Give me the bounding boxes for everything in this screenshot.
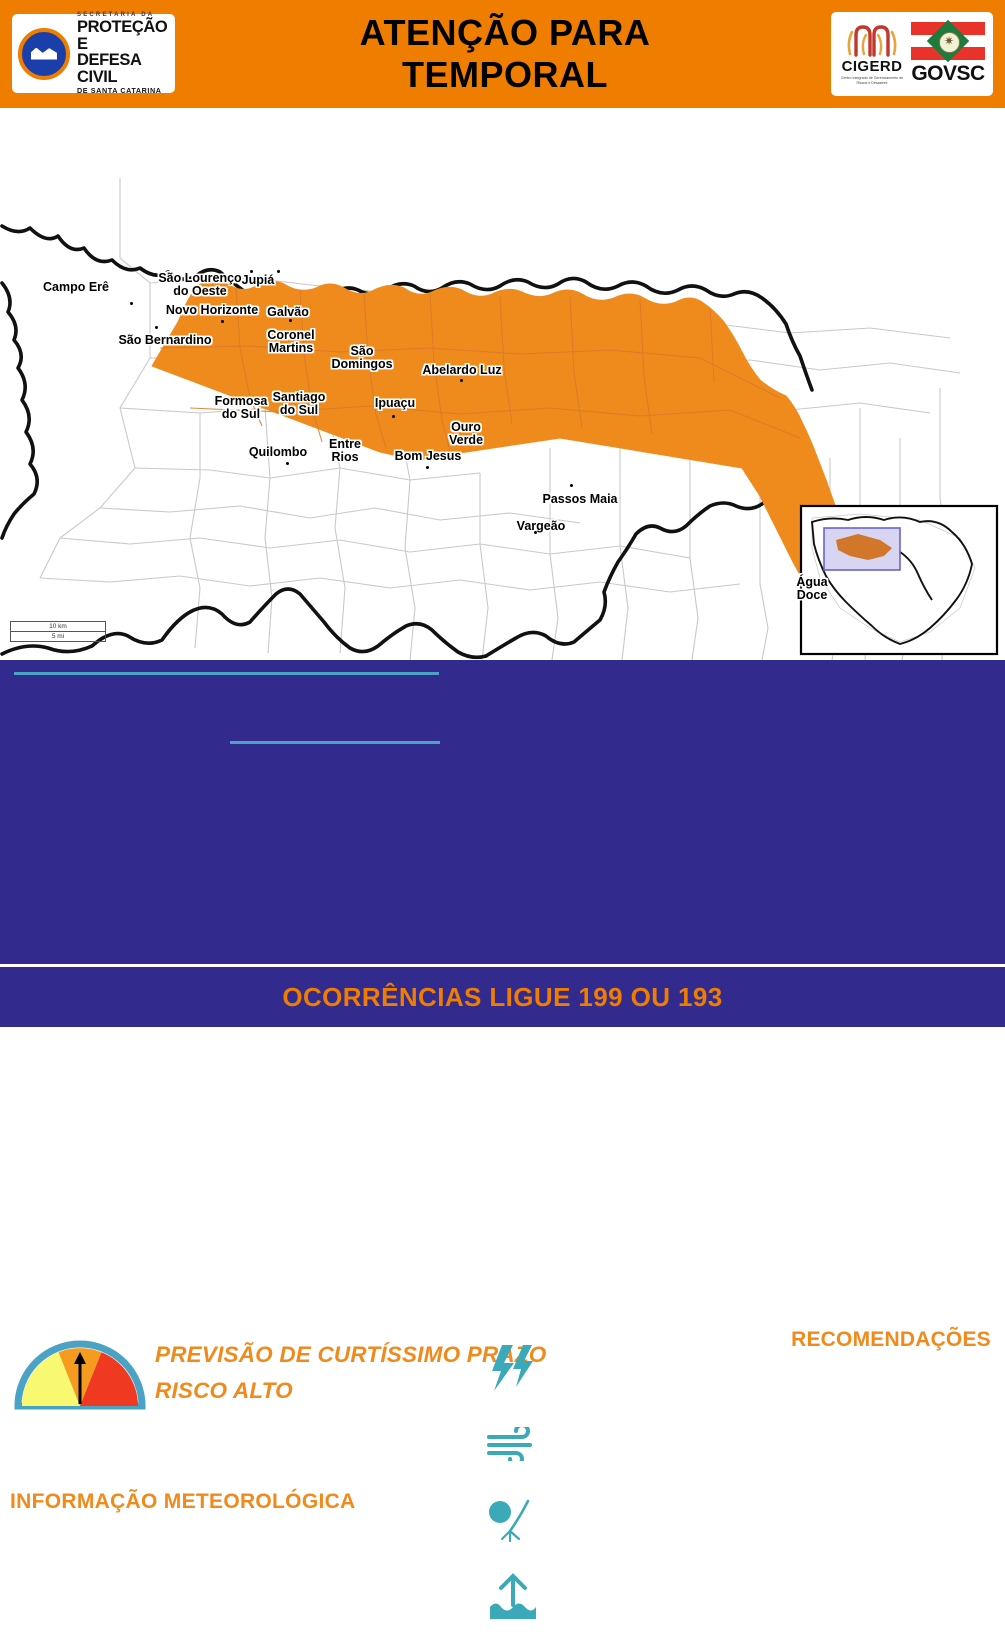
hazard-label: Raios	[544, 1354, 608, 1381]
recommendation-item: - Fique longe das janelas e desligue os …	[780, 1409, 1002, 1443]
page-title: ATENÇÃO PARA TEMPORAL	[240, 12, 770, 96]
divider-top	[14, 672, 439, 675]
logo-line-defesa: DEFESA CIVIL	[77, 52, 169, 85]
govsc-text: GOVSC	[909, 62, 987, 86]
emergency-footer: OCORRÊNCIAS LIGUE 199 OU 193	[0, 964, 1005, 1027]
city-label: Passos Maia	[530, 493, 630, 506]
hazard-item: Rajadas de Vento	[482, 1408, 782, 1479]
city-label: São Domingos	[323, 345, 401, 372]
hazard-label: Granizo	[544, 1506, 631, 1533]
city-label: Santiago do Sul	[262, 391, 336, 418]
city-label: Campo Erê	[34, 281, 118, 294]
defesa-civil-logo: SECRETARIA DA PROTEÇÃO E DEFESA CIVIL DE…	[12, 14, 175, 93]
govsc-logo: ✷ GOVSC	[909, 22, 987, 86]
city-label: Ouro Verde	[440, 421, 492, 448]
city-label: Ipuaçu	[364, 397, 426, 410]
city-label: Água Doce	[786, 576, 838, 603]
info-panel: PREVISÃO DE CURTÍSSIMO PRAZO RISCO ALTO …	[0, 660, 1005, 964]
sc-text: SC	[957, 62, 985, 85]
city-label: Coronel Martins	[255, 329, 327, 356]
cigerd-name: CIGERD	[837, 58, 907, 75]
met-info-heading: INFORMAÇÃO METEOROLÓGICA	[10, 1490, 356, 1514]
meteorologist-label: 17/02/2026 Meteorologista: Jessica Silva	[10, 1449, 346, 1471]
city-label: Novo Horizonte	[157, 304, 267, 317]
emergency-phone-text: OCORRÊNCIAS LIGUE 199 OU 193	[282, 982, 722, 1013]
alert-infographic: SECRETARIA DA PROTEÇÃO E DEFESA CIVIL DE…	[0, 0, 1005, 1024]
map-vector	[0, 108, 1005, 660]
recommendation-item: - Evite transitar em pontilhões e pontes…	[780, 1481, 1002, 1515]
hazard-label: Alagamentos	[544, 1582, 691, 1609]
hazard-item: Raios	[482, 1332, 782, 1403]
map-scale-bar: 10 km 5 mi	[10, 621, 106, 642]
logo-line-protecao: PROTEÇÃO E	[77, 19, 169, 52]
logo-line-estado: DE SANTA CATARINA	[77, 87, 169, 94]
santa-catarina-flag-icon: ✷	[911, 22, 985, 60]
shield-emblem-icon	[18, 28, 70, 80]
flood-icon	[482, 1571, 544, 1621]
recommendation-item: - Não dirija em locais alagados.	[780, 1462, 1002, 1479]
city-label: Entre Rios	[319, 438, 371, 465]
city-label: Bom Jesus	[386, 450, 470, 463]
recommendations-block: RECOMENDAÇÕES - Busque um local abrigado…	[780, 1328, 1002, 1551]
hazard-item: Granizo	[482, 1484, 782, 1555]
alert-map[interactable]: Campo Erê São Lourenço do Oeste Jupiá No…	[0, 108, 1005, 660]
cigerd-arcs-icon	[837, 23, 907, 57]
city-label: Abelardo Luz	[410, 364, 514, 377]
risk-level-label: RISCO ALTO	[155, 1378, 293, 1404]
recommendations-title: RECOMENDAÇÕES	[780, 1328, 1002, 1352]
hazard-label: Rajadas de Vento	[544, 1430, 738, 1457]
validity-label: Validade 19:04 até 21:04	[10, 1417, 262, 1443]
hazard-list: Raios Rajadas de Vento	[482, 1332, 782, 1636]
cigerd-logo: CIGERD Centro Integrado de Gerenciamento…	[837, 23, 907, 86]
partner-logos: CIGERD Centro Integrado de Gerenciamento…	[831, 12, 993, 96]
city-label: Jupiá	[233, 274, 283, 287]
wind-icon	[482, 1427, 544, 1461]
met-info-value: TEMPORAL	[10, 1521, 120, 1544]
scale-km: 10 km	[10, 621, 106, 631]
city-label: Galvão	[257, 306, 319, 319]
city-label: Quilombo	[240, 446, 316, 459]
city-label: Vargeão	[505, 520, 577, 533]
cigerd-subtitle: Centro Integrado de Gerenciamento de Ris…	[837, 76, 907, 86]
title-line-2: TEMPORAL	[240, 54, 770, 96]
recommendation-item: - Jamais fique na água.	[780, 1444, 1002, 1461]
title-line-1: ATENÇÃO PARA	[240, 12, 770, 54]
scale-mi: 5 mi	[10, 631, 106, 642]
header-bar: SECRETARIA DA PROTEÇÃO E DEFESA CIVIL DE…	[0, 0, 1005, 108]
city-label: São Bernardino	[106, 334, 224, 347]
risk-gauge	[14, 1338, 146, 1410]
divider-under-risk	[230, 741, 440, 744]
state-seal-icon: ✷	[939, 32, 960, 53]
recommendation-item: - Cuidado com crianças próximas a rios e…	[780, 1516, 1002, 1550]
recommendation-item: - Busque um local abrigado, longe de árv…	[780, 1356, 1002, 1408]
recommendations-list: - Busque um local abrigado, longe de árv…	[780, 1356, 1002, 1550]
gov-text: GOV	[911, 62, 956, 85]
hail-icon	[482, 1495, 544, 1545]
lightning-icon	[482, 1343, 544, 1393]
hazard-item: Alagamentos	[482, 1560, 782, 1631]
